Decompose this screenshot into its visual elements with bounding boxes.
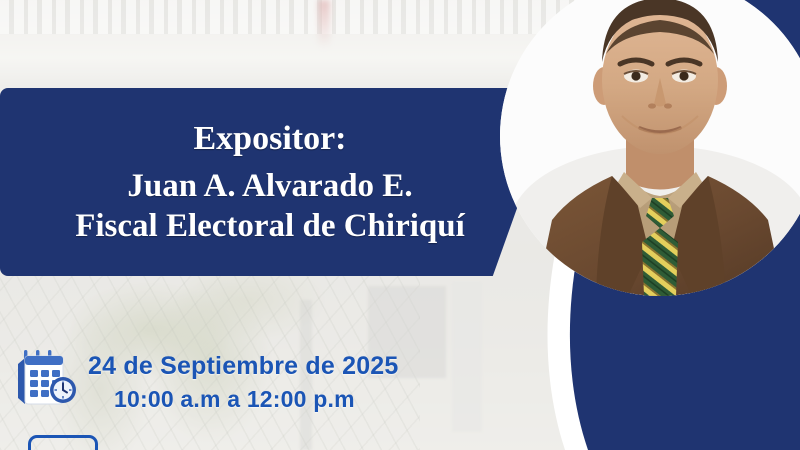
event-poster: Expositor: Juan A. Alvarado E. Fiscal El… — [0, 0, 800, 450]
headline-banner — [0, 88, 560, 276]
calendar-clock-icon — [12, 348, 78, 412]
event-time: 10:00 a.m a 12:00 p.m — [114, 386, 399, 413]
bottom-left-outline-box — [28, 435, 98, 450]
event-datetime: 24 de Septiembre de 2025 10:00 a.m a 12:… — [12, 348, 492, 413]
datetime-text-group: 24 de Septiembre de 2025 10:00 a.m a 12:… — [88, 348, 399, 413]
event-date: 24 de Septiembre de 2025 — [88, 352, 399, 381]
